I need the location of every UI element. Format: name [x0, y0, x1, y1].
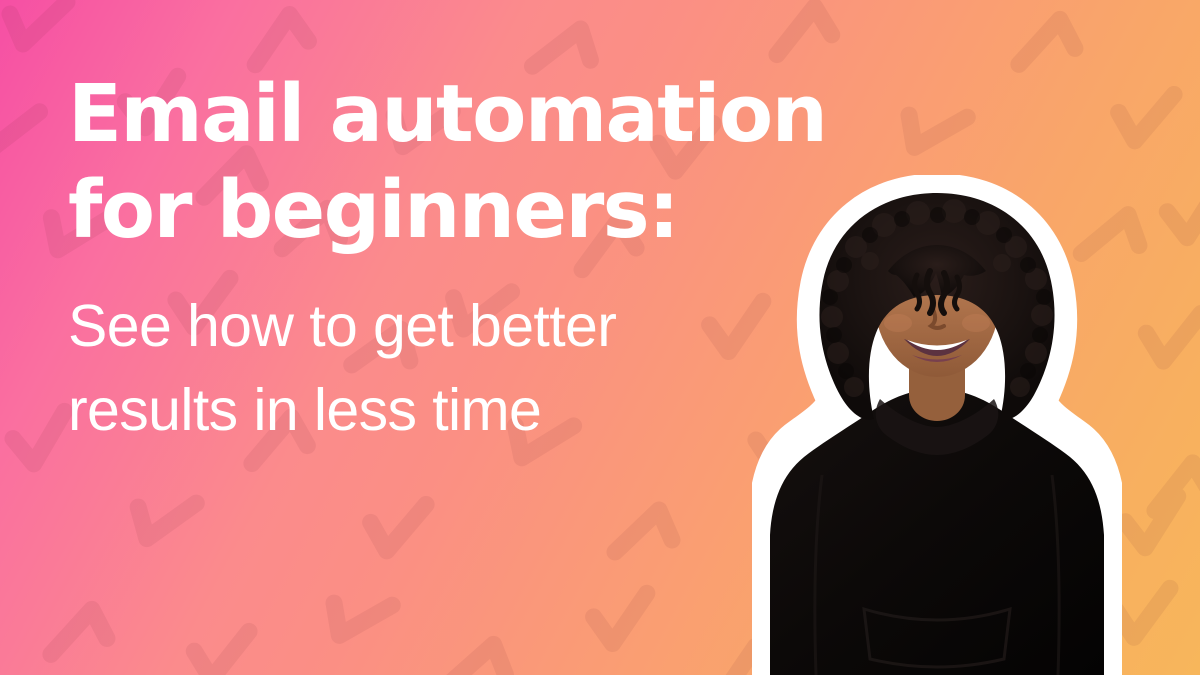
subheadline: See how to get better results in less ti…: [68, 258, 858, 452]
headline: Email automation for beginners:: [68, 66, 858, 258]
copy-block: Email automation for beginners: See how …: [68, 66, 858, 452]
promo-banner: Email automation for beginners: See how …: [0, 0, 1200, 675]
